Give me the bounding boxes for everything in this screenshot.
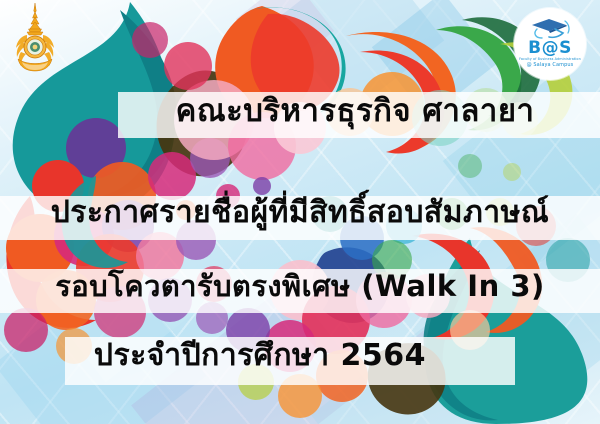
headline-line-1: คณะบริหารธุรกิจ ศาลายา [0,96,600,127]
thai-royal-emblem-icon [10,2,60,74]
poster-canvas: คณะบริหารธุรกิจ ศาลายา ประกาศรายชื่อผู้ท… [0,0,600,424]
bas-logo: B@S Faculty of Business Administration @… [514,8,586,80]
headline-line-2: ประกาศรายชื่อผู้ที่มีสิทธิ์สอบสัมภาษณ์ [0,198,600,228]
bas-wordmark: B@S [528,40,572,57]
graduation-cap-icon [529,17,571,39]
headline-line-4: ประจำปีการศึกษา 2564 [0,341,600,371]
bas-subtitle-campus: @ Salaya Campus [527,63,574,69]
headline-line-3: รอบโควตารับตรงพิเศษ (Walk In 3) [0,272,600,301]
